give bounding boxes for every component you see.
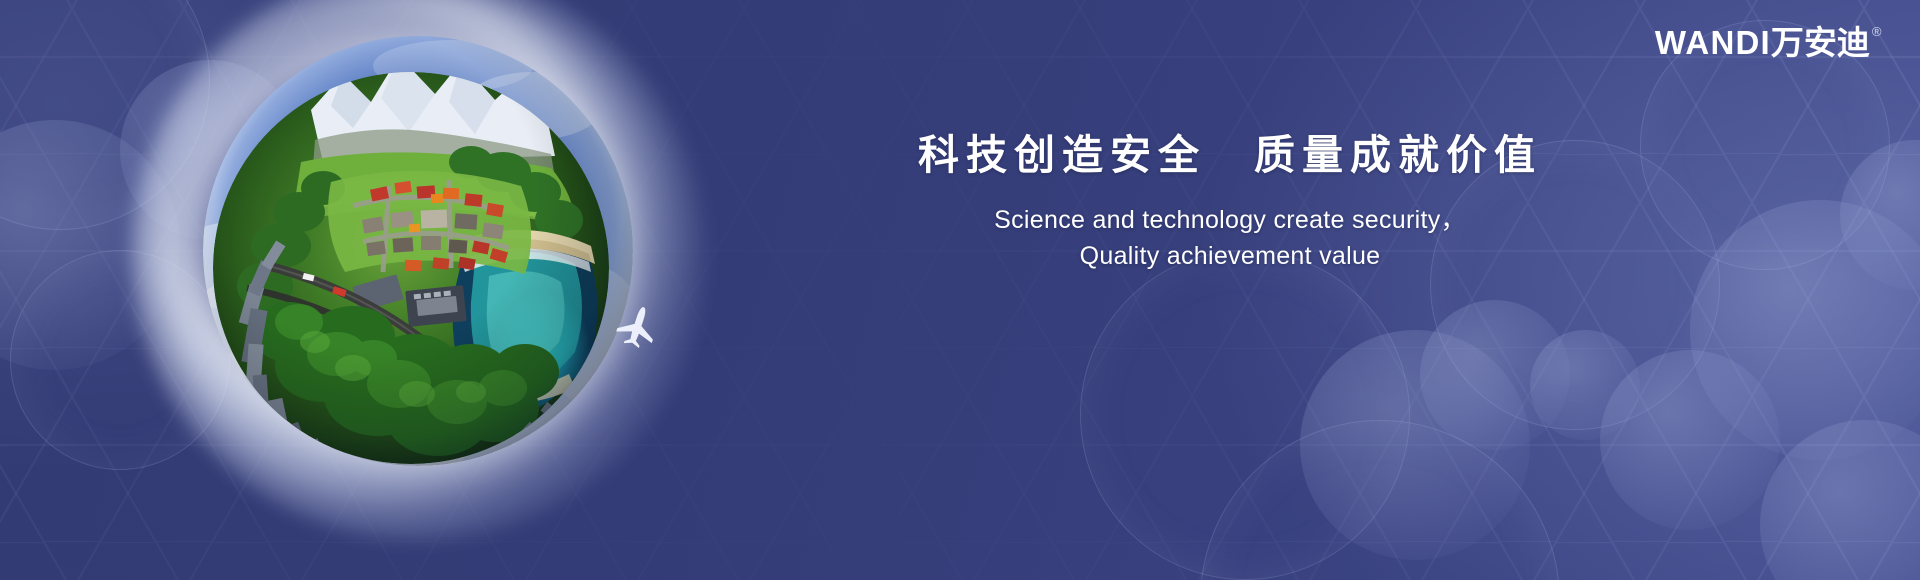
logo-chinese-text: 万安迪 xyxy=(1771,26,1870,59)
logo-latin-text: WANDI xyxy=(1655,26,1771,59)
brand-logo[interactable]: WANDI 万安迪 ® xyxy=(1655,26,1882,59)
slogan-english: Science and technology create security， … xyxy=(780,203,1680,274)
tiny-planet xyxy=(203,36,633,466)
slogan-english-line-1: Science and technology create security， xyxy=(780,203,1680,239)
slogan-block: 科技创造安全 质量成就价值 Science and technology cre… xyxy=(780,130,1680,274)
hero-banner: WANDI 万安迪 ® 科技创造安全 质量成就价值 Science and te… xyxy=(0,0,1920,580)
slogan-chinese: 科技创造安全 质量成就价值 xyxy=(780,130,1680,181)
registered-trademark-icon: ® xyxy=(1872,25,1882,38)
globe-image xyxy=(203,36,633,466)
slogan-english-line-2: Quality achievement value xyxy=(780,239,1680,275)
